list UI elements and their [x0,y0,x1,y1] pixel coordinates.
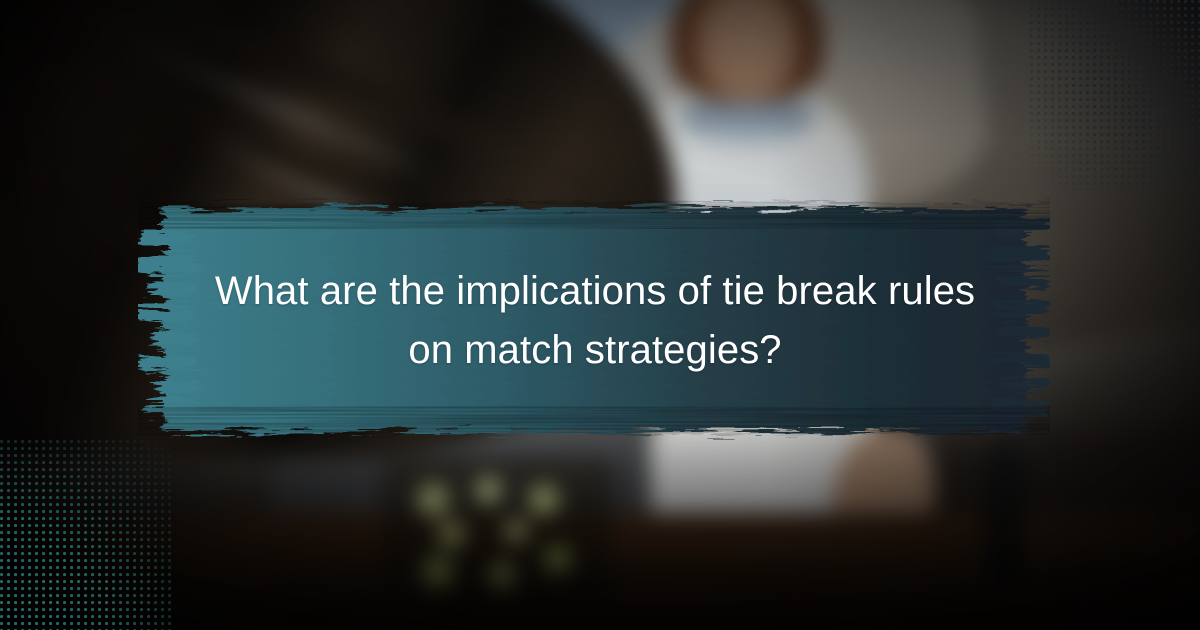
share-card: What are the implications of tie break r… [0,0,1200,630]
page-title: What are the implications of tie break r… [170,262,1020,380]
halftone-dots-top-right-icon [1030,0,1200,190]
halftone-dots-bottom-left-icon [0,440,175,630]
